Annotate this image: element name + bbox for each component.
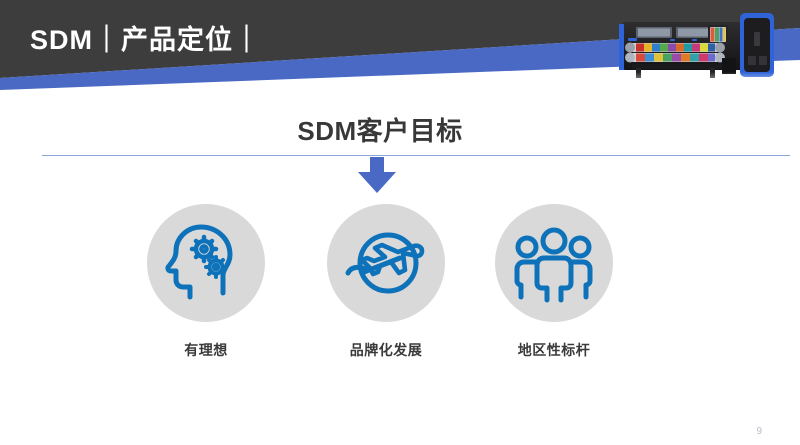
slide: SDM｜产品定位｜ [0,0,800,445]
icon-circle-background [495,204,613,322]
page-number: 9 [756,426,762,437]
icon-circle-background [147,204,265,322]
title-divider [42,155,790,156]
goal-label: 品牌化发展 [298,340,474,360]
head-with-gears-icon [160,217,252,309]
goal-label: 地区性标杆 [466,340,642,360]
goal-label: 有理想 [118,340,294,360]
goal-item-brand-development[interactable]: 品牌化发展 [298,204,474,360]
goal-item-idealistic[interactable]: 有理想 [118,204,294,360]
people-group-icon [508,217,600,309]
icon-circle-background [327,204,445,322]
airplane-globe-icon [340,217,432,309]
goal-item-regional-benchmark[interactable]: 地区性标杆 [466,204,642,360]
section-title: SDM客户目标 [0,111,760,148]
printer-photo [592,2,788,88]
down-arrow-icon [356,155,398,195]
goals-icon-row: 有理想 品牌化发展 [118,204,682,384]
page-title: SDM｜产品定位｜ [30,18,261,57]
